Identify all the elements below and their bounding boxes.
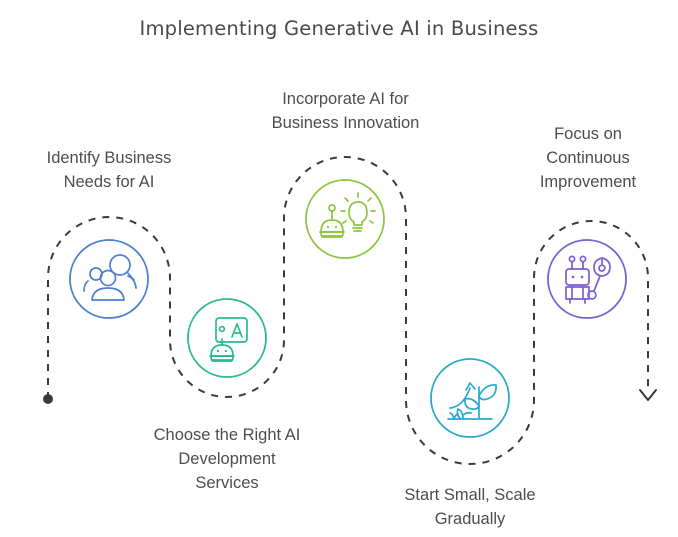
node-2-icon-group[interactable]: [188, 299, 266, 377]
node-2-circle[interactable]: [188, 299, 266, 377]
node-1-icon-group[interactable]: [70, 240, 148, 318]
node-4-icon-group[interactable]: [431, 359, 509, 437]
node-5-circle[interactable]: [548, 240, 626, 318]
diagram-root: Implementing Generative AI in Business: [0, 0, 678, 537]
node-3-label: Incorporate AI for Business Innovation: [243, 87, 448, 135]
node-1-circle[interactable]: [70, 240, 148, 318]
node-4-label: Start Small, Scale Gradually: [370, 483, 570, 531]
node-1-label: Identify Business Needs for AI: [9, 146, 209, 194]
node-5-label: Focus on Continuous Improvement: [505, 122, 671, 194]
node-5-icon-group[interactable]: [548, 240, 626, 318]
arrow-down-icon: [640, 390, 656, 400]
node-2-label: Choose the Right AI Development Services: [117, 423, 337, 495]
node-3-circle[interactable]: [306, 180, 384, 258]
start-dot-icon: [43, 394, 53, 404]
flow-canvas: [0, 0, 678, 537]
node-3-icon-group[interactable]: [306, 180, 384, 258]
